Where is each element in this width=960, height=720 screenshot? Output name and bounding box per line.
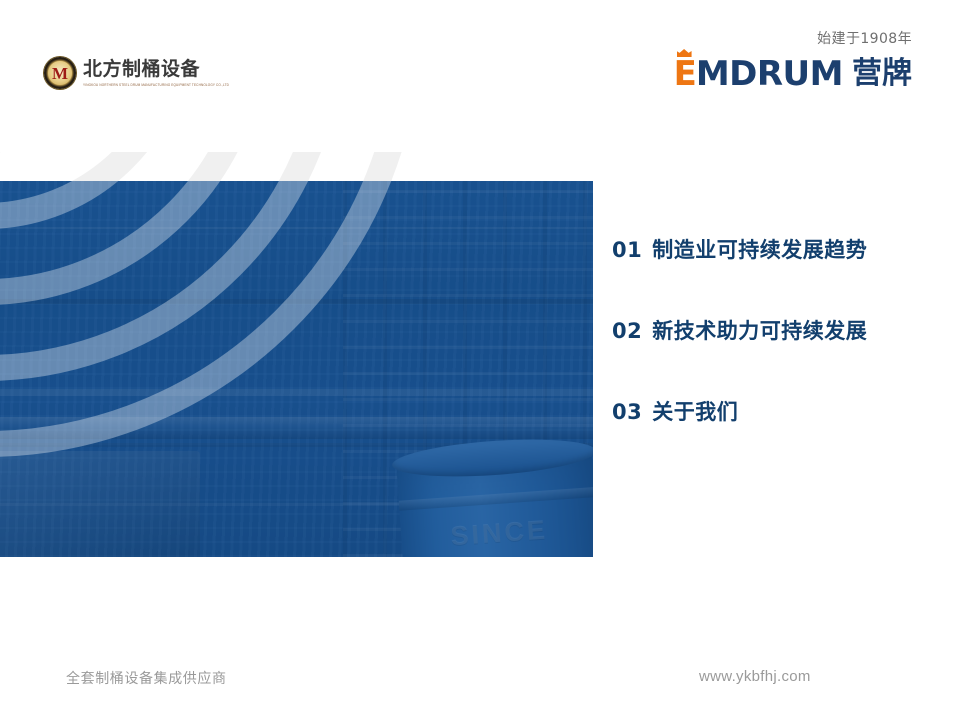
emdrum-mark-first: E	[674, 54, 696, 94]
agenda-item-number: 03	[612, 400, 642, 424]
logo-monogram: M	[52, 65, 68, 82]
agenda-item-label: 关于我们	[652, 396, 738, 426]
agenda-item-label: 新技术助力可持续发展	[652, 315, 867, 345]
crown-icon	[677, 49, 692, 57]
logo-name-cn: 北方制桶设备	[83, 60, 229, 80]
agenda-item-label: 制造业可持续发展趋势	[652, 234, 867, 264]
header-brand-block: 始建于1908年 E MDRUM 营牌	[674, 28, 912, 91]
slide-footer: 全套制桶设备集成供应商 www.ykbfhj.com	[0, 650, 960, 720]
agenda-list: 01 制造业可持续发展趋势 02 新技术助力可持续发展 03 关于我们	[612, 234, 942, 426]
logo-text: 北方制桶设备 YINGKOU NORTHERN STEEL DRUM MANUF…	[83, 60, 229, 86]
factory-photo: SINCE 1908 110年钢桶生产经验 70年钢桶设备生产经验 110 YE…	[0, 181, 593, 557]
logo-badge-icon: M	[44, 57, 76, 89]
agenda-item-02[interactable]: 02 新技术助力可持续发展	[612, 315, 942, 345]
hero-image-panel: SINCE 1908 110年钢桶生产经验 70年钢桶设备生产经验 110 YE…	[0, 181, 593, 557]
agenda-item-03[interactable]: 03 关于我们	[612, 396, 942, 426]
company-logo: M 北方制桶设备 YINGKOU NORTHERN STEEL DRUM MAN…	[44, 57, 229, 89]
agenda-item-number: 02	[612, 319, 642, 343]
agenda-item-01[interactable]: 01 制造业可持续发展趋势	[612, 234, 942, 264]
established-note: 始建于1908年	[674, 28, 912, 48]
emdrum-mark-cn: 营牌	[852, 59, 912, 89]
footer-website[interactable]: www.ykbfhj.com	[699, 668, 811, 685]
logo-name-en: YINGKOU NORTHERN STEEL DRUM MANUFACTURIN…	[83, 82, 229, 87]
emdrum-logo: E MDRUM 营牌	[674, 57, 912, 91]
slide-header: M 北方制桶设备 YINGKOU NORTHERN STEEL DRUM MAN…	[0, 0, 960, 140]
photo-blue-tint-overlay	[0, 181, 593, 557]
agenda-item-number: 01	[612, 238, 642, 262]
emdrum-mark-rest: MDRUM	[696, 57, 843, 91]
ripple-arcs-overflow	[0, 152, 640, 182]
emdrum-e-letter: E	[674, 57, 696, 91]
footer-tagline: 全套制桶设备集成供应商	[66, 668, 227, 688]
